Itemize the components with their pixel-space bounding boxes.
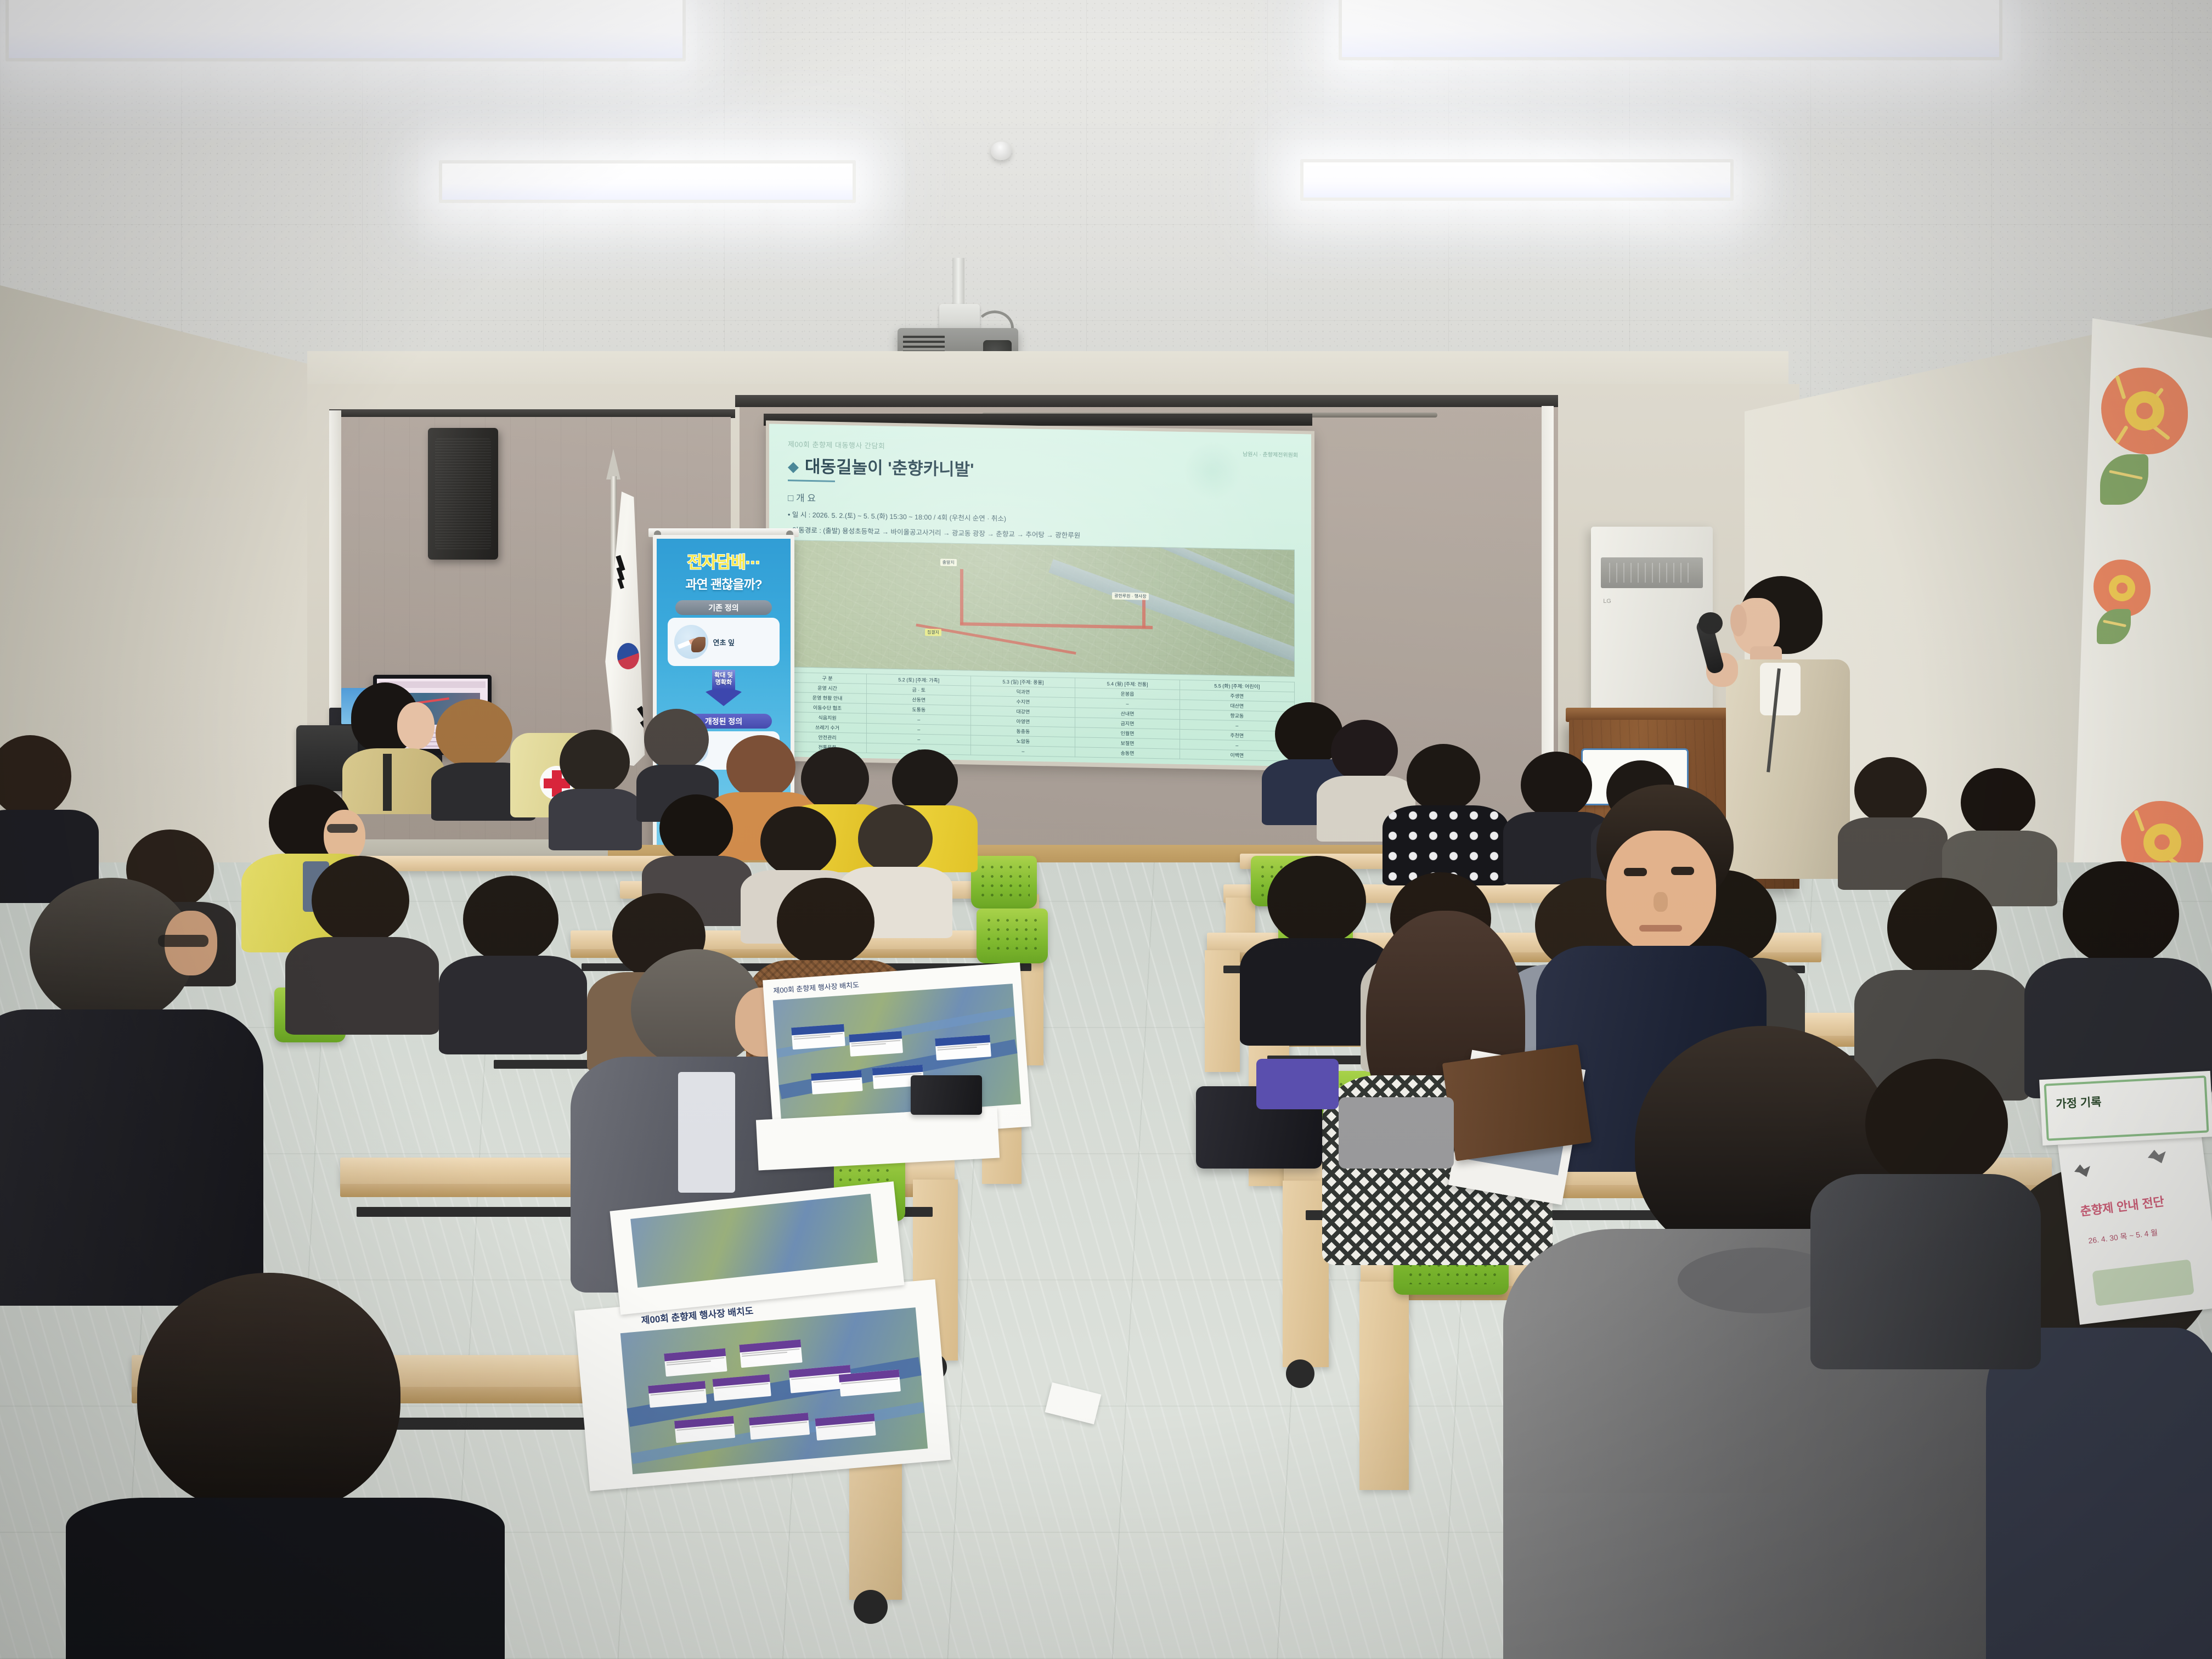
attendee-mid-left-3: [285, 856, 439, 1031]
notebook[interactable]: [1442, 1044, 1592, 1161]
handout-callout: [849, 1031, 903, 1057]
microphone-head: [1699, 612, 1723, 634]
slide-table-cell-6-3: 송동면: [1075, 747, 1180, 759]
ceiling-light-back-left: [5, 0, 686, 61]
slide-content: 제00회 춘향제 대동행사 간담회 대동길놀이 '춘향카니발' □ 개 요 • …: [769, 424, 1311, 767]
handout-callout: [935, 1035, 991, 1060]
attendee-right-edge: [1810, 1059, 2041, 1366]
handout-callout: [791, 1024, 845, 1050]
banner-headline-1: 전자담배···: [657, 549, 791, 573]
ceiling-light-front-right: [1300, 159, 1734, 201]
aircon-vent: [1601, 557, 1703, 588]
projection-screen: 제00회 춘향제 대동행사 간담회 대동길놀이 '춘향카니발' □ 개 요 • …: [766, 420, 1314, 771]
ceiling-light-back-right: [1339, 0, 2002, 60]
attendee-mid-left-4: [439, 876, 587, 1051]
handout-green-doc[interactable]: 가정 기록: [2039, 1071, 2212, 1145]
eyeglasses-icon: [327, 824, 358, 833]
aircon-brand-label: LG: [1603, 598, 1611, 605]
slide-map-pin-1: 출발지: [940, 558, 957, 566]
attendee-back-9: [1838, 757, 1948, 883]
briefing-room-photo: 제00회 춘향제 대동행사 간담회 대동길놀이 '춘향카니발' □ 개 요 • …: [0, 0, 2212, 1659]
slide-logo: 남원시 · 춘향제전위원회: [1243, 449, 1298, 459]
cigarette-icon: [674, 625, 708, 659]
eyeglasses-icon: [158, 935, 208, 947]
banner-chip-existing: 기존 정의: [675, 600, 772, 615]
slide-map-pin-2: 광한루원 · 행사장: [1112, 592, 1149, 600]
slide-title-text: 대동길놀이 '춘향카니발': [805, 457, 974, 479]
flower-icon-2: [2093, 560, 2151, 617]
chair[interactable]: [977, 909, 1048, 963]
smoke-detector-icon: [991, 142, 1012, 160]
handout-flyer[interactable]: 춘향제 안내 전단 26. 4. 30 목 ~ 5. 4 월: [2058, 1127, 2212, 1324]
down-arrow-icon: 확대 및명확화: [701, 670, 746, 706]
attendee-mid-right-6: [2024, 861, 2212, 1097]
wall-speaker: [428, 428, 498, 560]
attendee-mid-left-2: [0, 735, 99, 900]
slide-table-cell-6-2: –: [971, 745, 1075, 757]
handout-callout: [811, 1070, 862, 1094]
desk-panel-R6: [1359, 1282, 1409, 1490]
ceiling-light-front-left: [439, 160, 856, 203]
slide-map-pin-3: 집결지: [925, 629, 941, 636]
slide-title-rule: [788, 479, 835, 482]
wallet-case[interactable]: [911, 1075, 982, 1115]
attendee-foreground-left: [88, 1273, 472, 1659]
banner-card-caption: 연초 잎: [713, 637, 735, 647]
floor-bag-3[interactable]: [1339, 1097, 1454, 1169]
chair[interactable]: [971, 856, 1037, 909]
attendee-black-puffer: [0, 878, 263, 1295]
attendee-back-1: [549, 730, 642, 839]
blind-rail-right: [735, 395, 1558, 407]
attendee-heart-sweater: [1383, 744, 1509, 881]
flower-icon-1: [2101, 368, 2188, 454]
floor-bag-2[interactable]: [1256, 1059, 1339, 1109]
banner-card-existing: 연초 잎: [668, 618, 780, 666]
slide-watermark: [1180, 437, 1245, 504]
banner-headline-2: 과연 괜찮을까?: [657, 574, 791, 592]
slide-title-marker-icon: [788, 462, 799, 473]
slide-map-image: 출발지 광한루원 · 행사장 집결지: [788, 540, 1295, 677]
leaf-icon-1: [2100, 454, 2148, 505]
arrow-text-2: 명확화: [715, 679, 732, 686]
arrow-text-1: 확대 및: [714, 672, 732, 679]
